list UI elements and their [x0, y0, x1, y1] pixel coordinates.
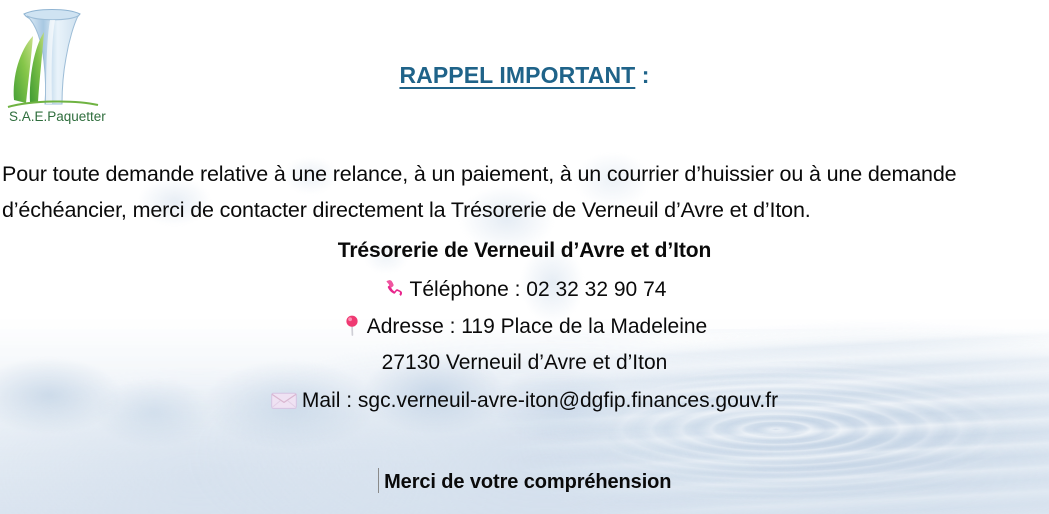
text-cursor-caret	[378, 468, 380, 493]
closing-line: Merci de votre compréhension	[0, 468, 1049, 494]
phone-line: Téléphone : 02 32 32 90 74	[0, 277, 1049, 302]
address-line: Adresse : 119 Place de la Madeleine	[0, 314, 1049, 339]
round-pushpin-icon	[342, 314, 362, 336]
city-line: 27130 Verneuil d’Avre et d’Iton	[0, 351, 1049, 375]
page-title-text: RAPPEL IMPORTANT	[399, 62, 635, 88]
mail-label: Mail : sgc.verneuil-avre-iton@dgfip.fina…	[302, 389, 778, 412]
body-paragraph: Pour toute demande relative à une relanc…	[2, 156, 1047, 228]
treasury-office-name: Trésorerie de Verneuil d’Avre et d’Iton	[0, 239, 1049, 263]
document-page: S.A.E.Paquetterie RAPPEL IMPORTANT : Pou…	[0, 0, 1049, 514]
address-label: Adresse : 119 Place de la Madeleine	[367, 315, 708, 338]
envelope-icon	[271, 391, 297, 410]
page-title-colon: :	[635, 62, 649, 88]
telephone-receiver-icon	[383, 277, 405, 299]
closing-text: Merci de votre compréhension	[384, 471, 671, 493]
mail-line: Mail : sgc.verneuil-avre-iton@dgfip.fina…	[0, 389, 1049, 413]
phone-label: Téléphone : 02 32 32 90 74	[410, 278, 667, 301]
page-title: RAPPEL IMPORTANT :	[0, 62, 1049, 89]
